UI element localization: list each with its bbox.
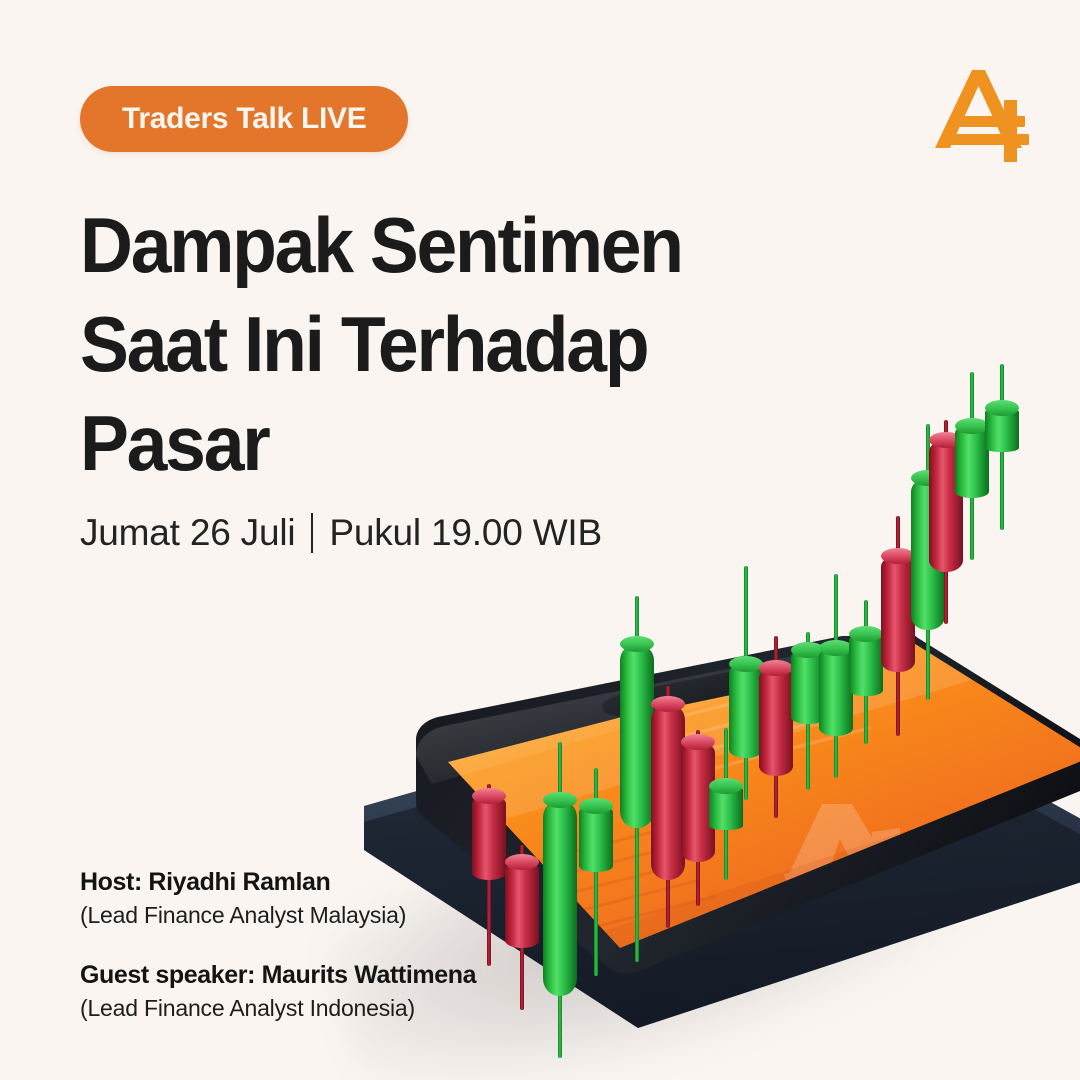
candle-16-red xyxy=(929,420,963,624)
candle-wick xyxy=(1000,364,1004,530)
candle-18-green xyxy=(985,364,1019,530)
candle-wick xyxy=(944,420,948,624)
candle-cap xyxy=(985,400,1019,416)
credit-host-name: Host: Riyadhi Ramlan xyxy=(80,866,476,899)
candle-body xyxy=(955,426,989,498)
credit-host: Host: Riyadhi Ramlan (Lead Finance Analy… xyxy=(80,866,476,931)
credit-host-role: (Lead Finance Analyst Malaysia) xyxy=(80,899,476,931)
candle-body xyxy=(929,440,963,572)
candle-17-green xyxy=(955,372,989,560)
credit-guest-role: (Lead Finance Analyst Indonesia) xyxy=(80,992,476,1024)
candle-body xyxy=(911,478,945,630)
candle-cap xyxy=(955,418,989,434)
candle-body xyxy=(985,408,1019,452)
credits-block: Host: Riyadhi Ramlan (Lead Finance Analy… xyxy=(80,866,476,1024)
candle-cap xyxy=(881,548,915,564)
credit-guest: Guest speaker: Maurits Wattimena (Lead F… xyxy=(80,959,476,1024)
candle-cap xyxy=(929,432,963,448)
candle-wick xyxy=(970,372,974,560)
promo-poster: Traders Talk LIVE Dampak Sentimen Saat I… xyxy=(0,0,1080,1080)
credit-guest-name: Guest speaker: Maurits Wattimena xyxy=(80,959,476,992)
candle-cap xyxy=(911,470,945,486)
